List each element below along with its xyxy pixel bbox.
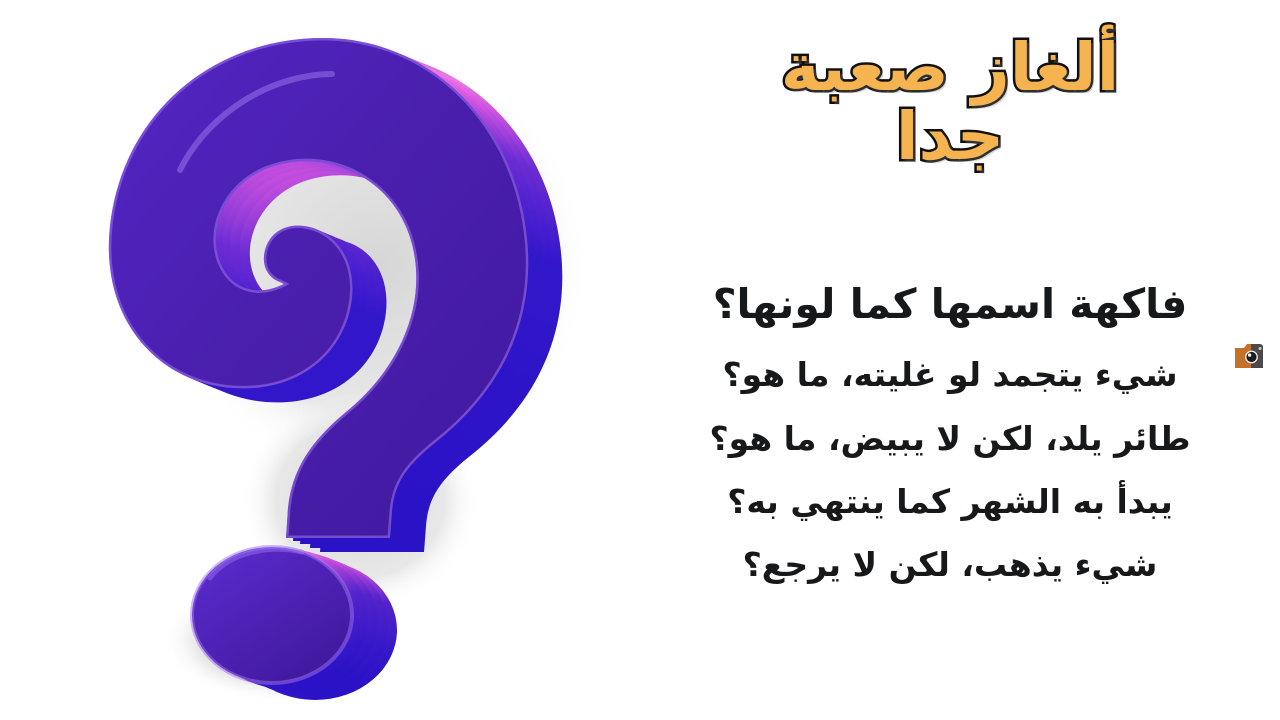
riddle-lead: فاكهة اسمها كما لونها؟ <box>620 278 1280 331</box>
camera-icon <box>1234 339 1268 373</box>
poster-title: ألغاز صعبة جدا <box>620 34 1280 171</box>
riddle-item-1: شيء يتجمد لو غليته، ما هو؟ <box>620 353 1280 397</box>
poster-canvas: ألغاز صعبة جدا فاكهة اسمها كما لونها؟ شي… <box>0 0 1280 720</box>
riddle-item-3: يبدأ به الشهر كما ينتهي به؟ <box>620 480 1280 524</box>
title-line-2: جدا <box>620 103 1280 170</box>
title-line-1: ألغاز صعبة <box>620 34 1280 101</box>
question-mark-illustration <box>0 0 620 720</box>
question-mark-svg <box>60 30 620 700</box>
camera-logo-watermark <box>1234 339 1268 373</box>
riddle-item-4: شيء يذهب، لكن لا يرجع؟ <box>620 543 1280 587</box>
riddle-item-2: طائر يلد، لكن لا يبيض، ما هو؟ <box>620 417 1280 461</box>
text-panel: ألغاز صعبة جدا فاكهة اسمها كما لونها؟ شي… <box>620 0 1280 720</box>
riddle-list: فاكهة اسمها كما لونها؟ شيء يتجمد لو غليت… <box>620 278 1280 606</box>
